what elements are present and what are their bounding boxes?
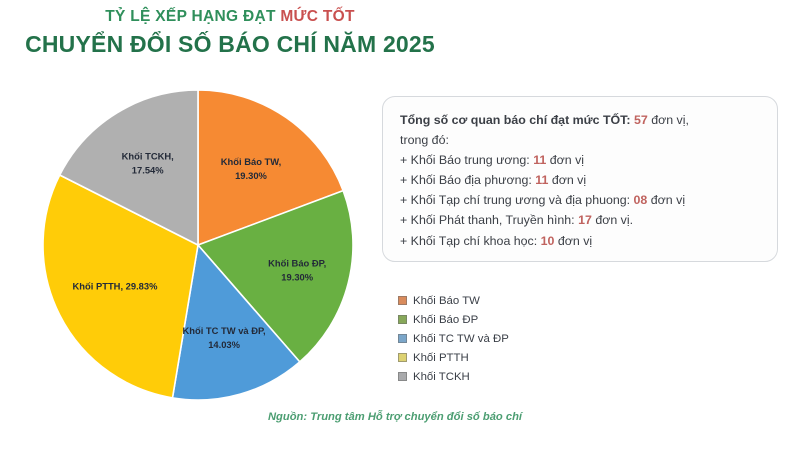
- pie-slice-value: 19.30%: [281, 272, 313, 283]
- pie-slice-group: [43, 90, 353, 400]
- info-line-number: 11: [535, 173, 548, 187]
- legend-swatch-icon: [398, 372, 407, 381]
- info-line-label: Tổng số cơ quan báo chí đạt mức TỐT:: [400, 113, 634, 127]
- info-line: trong đó:: [400, 130, 761, 150]
- summary-info-box: Tổng số cơ quan báo chí đạt mức TỐT: 57 …: [382, 96, 778, 262]
- legend-item[interactable]: Khối Báo TW: [398, 291, 598, 310]
- pie-slice-label: Khối PTTH, 29.83%: [73, 280, 159, 291]
- legend-swatch-icon: [398, 296, 407, 305]
- info-line: + Khối Báo địa phương: 11 đơn vị: [400, 170, 761, 190]
- info-line-unit: đơn vị: [647, 193, 685, 207]
- legend-swatch-icon: [398, 353, 407, 362]
- legend-item[interactable]: Khối Báo ĐP: [398, 310, 598, 329]
- info-line: + Khối Tạp chí trung ương và địa phuong:…: [400, 190, 761, 210]
- pie-slice-label: Khối TCKH,: [122, 151, 174, 162]
- source-note: Nguồn: Trung tâm Hỗ trợ chuyển đổi số bá…: [0, 411, 790, 423]
- info-line-unit: đơn vị,: [648, 113, 689, 127]
- info-line-number: 11: [533, 153, 546, 167]
- legend-item-label: Khối TCKH: [413, 371, 470, 383]
- legend-item[interactable]: Khối TC TW và ĐP: [398, 329, 598, 348]
- legend-item[interactable]: Khối PTTH: [398, 348, 598, 367]
- info-line-unit: đơn vị.: [592, 213, 633, 227]
- info-line-unit: đơn vị: [554, 234, 592, 248]
- title-line-1-highlight: MỨC TỐT: [280, 8, 354, 25]
- info-line-label: + Khối Phát thanh, Truyền hình:: [400, 213, 578, 227]
- info-line-number: 17: [578, 213, 592, 227]
- pie-chart: Khối Báo TW,19.30%Khối Báo ĐP,19.30%Khối…: [34, 84, 364, 402]
- info-line-label: + Khối Tạp chí trung ương và địa phuong:: [400, 193, 634, 207]
- title-line-1-plain: TỶ LỆ XẾP HẠNG ĐẠT: [105, 8, 280, 25]
- pie-slice-value: 17.54%: [132, 165, 164, 176]
- chart-legend: Khối Báo TWKhối Báo ĐPKhối TC TW và ĐPKh…: [398, 291, 598, 386]
- legend-swatch-icon: [398, 334, 407, 343]
- legend-item-label: Khối PTTH: [413, 352, 469, 364]
- legend-item[interactable]: Khối TCKH: [398, 367, 598, 386]
- title-line-1: TỶ LỆ XẾP HẠNG ĐẠT MỨC TỐT: [0, 8, 460, 26]
- info-line: + Khối Báo trung ương: 11 đơn vị: [400, 150, 761, 170]
- info-line-number: 08: [634, 193, 648, 207]
- info-line: Tổng số cơ quan báo chí đạt mức TỐT: 57 …: [400, 110, 761, 130]
- pie-slice-value: 19.30%: [235, 170, 267, 181]
- info-line: + Khối Tạp chí khoa học: 10 đơn vị: [400, 231, 761, 251]
- legend-item-label: Khối TC TW và ĐP: [413, 333, 509, 345]
- pie-slice-label: Khối Báo ĐP,: [268, 258, 326, 269]
- info-line-unit: đơn vị: [546, 153, 584, 167]
- legend-item-label: Khối Báo TW: [413, 295, 480, 307]
- info-line-number: 57: [634, 113, 648, 127]
- pie-slice-label: Khối Báo TW,: [221, 156, 281, 167]
- page-title: TỶ LỆ XẾP HẠNG ĐẠT MỨC TỐT CHUYỂN ĐỔI SỐ…: [0, 8, 460, 58]
- info-line-unit: đơn vị: [548, 173, 586, 187]
- info-line-label: + Khối Tạp chí khoa học:: [400, 234, 541, 248]
- info-line-number: 10: [541, 234, 555, 248]
- pie-slice-label: Khối TC TW và ĐP,: [183, 325, 266, 336]
- pie-slice-value: 14.03%: [208, 339, 240, 350]
- title-line-2: CHUYỂN ĐỔI SỐ BÁO CHÍ NĂM 2025: [0, 31, 460, 58]
- legend-item-label: Khối Báo ĐP: [413, 314, 478, 326]
- pie-chart-svg: Khối Báo TW,19.30%Khối Báo ĐP,19.30%Khối…: [34, 84, 364, 402]
- info-line-label: trong đó:: [400, 133, 449, 147]
- info-line-label: + Khối Báo trung ương:: [400, 153, 533, 167]
- legend-swatch-icon: [398, 315, 407, 324]
- info-line-label: + Khối Báo địa phương:: [400, 173, 535, 187]
- info-line: + Khối Phát thanh, Truyền hình: 17 đơn v…: [400, 210, 761, 230]
